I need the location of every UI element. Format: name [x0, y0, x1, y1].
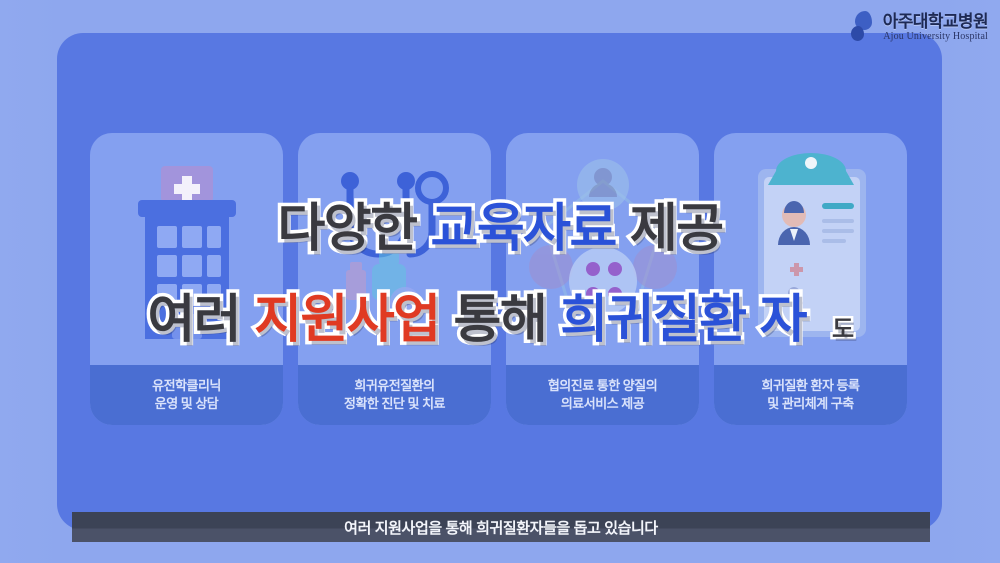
- feature-card-label: 희귀유전질환의 정확한 진단 및 치료: [298, 365, 491, 425]
- stethoscope-icon: [298, 133, 491, 365]
- feature-card-label-line2: 및 관리체계 구축: [767, 397, 853, 412]
- feature-card-label-line1: 희귀질환 환자 등록: [762, 379, 860, 394]
- feature-card-row: 유전학클리닉 운영 및 상담: [90, 133, 910, 425]
- feature-card-label-line2: 의료서비스 제공: [561, 397, 644, 412]
- subtitle-bar: 여러 지원사업을 통해 희귀질환자들을 돕고 있습니다: [72, 512, 930, 542]
- feature-card-label-line1: 유전학클리닉: [152, 379, 221, 394]
- feature-card-label-line1: 희귀유전질환의: [354, 379, 434, 394]
- feature-card[interactable]: 희귀유전질환의 정확한 진단 및 치료: [298, 133, 491, 425]
- logo-name-korean: 아주대학교병원: [883, 13, 988, 30]
- feature-card-label-line1: 협의진료 통한 양질의: [548, 379, 657, 394]
- logo-name-english: Ajou University Hospital: [883, 32, 988, 42]
- feature-card[interactable]: 협의진료 통한 양질의 의료서비스 제공: [506, 133, 699, 425]
- ajou-blob-mark-icon: [851, 10, 877, 44]
- feature-card[interactable]: 유전학클리닉 운영 및 상담: [90, 133, 283, 425]
- hospital-logo: 아주대학교병원 Ajou University Hospital: [798, 6, 988, 48]
- collaboration-network-icon: [506, 133, 699, 365]
- feature-card-label-line2: 정확한 진단 및 치료: [344, 397, 445, 412]
- feature-card-label: 유전학클리닉 운영 및 상담: [90, 365, 283, 425]
- hospital-building-icon: [90, 133, 283, 365]
- feature-card-label: 희귀질환 환자 등록 및 관리체계 구축: [714, 365, 907, 425]
- clipboard-patient-record-icon: [714, 133, 907, 365]
- feature-card-label: 협의진료 통한 양질의 의료서비스 제공: [506, 365, 699, 425]
- feature-card[interactable]: 희귀질환 환자 등록 및 관리체계 구축: [714, 133, 907, 425]
- subtitle-text: 여러 지원사업을 통해 희귀질환자들을 돕고 있습니다: [344, 517, 658, 538]
- video-frame: 아주대학교병원 Ajou University Hospital: [0, 0, 1000, 563]
- feature-card-label-line2: 운영 및 상담: [155, 397, 219, 412]
